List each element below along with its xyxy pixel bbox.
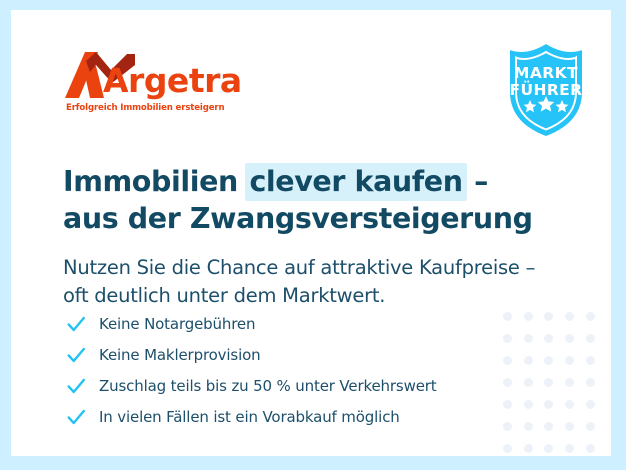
subheading-line-1: Nutzen Sie die Chance auf attraktive Kau… (63, 256, 535, 279)
decorative-dot (565, 334, 574, 343)
bullet-label: Zuschlag teils bis zu 50 % unter Verkehr… (99, 377, 437, 395)
decorative-dot (565, 444, 574, 453)
decorative-dot (524, 422, 533, 431)
check-icon (65, 313, 87, 335)
bullet-label: Keine Maklerprovision (99, 346, 260, 364)
decorative-dot (524, 400, 533, 409)
benefits-list: Keine NotargebührenKeine Maklerprovision… (65, 308, 505, 432)
decorative-dot (565, 400, 574, 409)
subheading: Nutzen Sie die Chance auf attraktive Kau… (63, 254, 543, 310)
headline: Immobilien clever kaufen – aus der Zwang… (63, 163, 533, 237)
decorative-dot (586, 422, 595, 431)
decorative-dot (544, 312, 553, 321)
headline-line-2: aus der Zwangsversteigerung (63, 202, 533, 235)
promo-banner: Argetra Erfolgreich Immobilien ersteiger… (0, 0, 626, 470)
content-card: Argetra Erfolgreich Immobilien ersteiger… (11, 10, 611, 456)
decorative-dot (524, 378, 533, 387)
headline-highlight: clever kaufen (245, 163, 466, 201)
headline-part-2: – (465, 165, 488, 198)
decorative-dot (524, 312, 533, 321)
decorative-dot (586, 400, 595, 409)
list-item: Keine Notargebühren (65, 308, 505, 339)
check-icon (65, 375, 87, 397)
decorative-dot (544, 378, 553, 387)
subheading-line-2: oft deutlich unter dem Marktwert. (63, 284, 385, 307)
dot-grid-decoration (497, 305, 601, 456)
list-item: Zuschlag teils bis zu 50 % unter Verkehr… (65, 370, 505, 401)
decorative-dot (544, 356, 553, 365)
decorative-dot (586, 356, 595, 365)
list-item: Keine Maklerprovision (65, 339, 505, 370)
list-item: In vielen Fällen ist ein Vorabkauf mögli… (65, 401, 505, 432)
decorative-dot (586, 378, 595, 387)
decorative-dot (586, 444, 595, 453)
decorative-dot (586, 334, 595, 343)
check-icon (65, 406, 87, 428)
badge-line-2: FÜHRER (500, 81, 592, 99)
decorative-dot (524, 444, 533, 453)
headline-part-1: Immobilien (63, 165, 247, 198)
decorative-dot (524, 334, 533, 343)
decorative-dot (544, 444, 553, 453)
decorative-dot (524, 356, 533, 365)
decorative-dot (544, 422, 553, 431)
check-icon (65, 344, 87, 366)
market-leader-badge: MARKT FÜHRER (500, 42, 592, 138)
decorative-dot (586, 312, 595, 321)
logo-tagline: Erfolgreich Immobilien ersteigern (66, 103, 224, 113)
decorative-dot (565, 378, 574, 387)
bullet-label: Keine Notargebühren (99, 315, 255, 333)
bullet-label: In vielen Fällen ist ein Vorabkauf mögli… (99, 408, 400, 426)
decorative-dot (565, 422, 574, 431)
decorative-dot (503, 444, 512, 453)
decorative-dot (544, 334, 553, 343)
decorative-dot (565, 312, 574, 321)
decorative-dot (565, 356, 574, 365)
argetra-logo[interactable]: Argetra Erfolgreich Immobilien ersteiger… (65, 52, 255, 116)
badge-line-1: MARKT (500, 64, 592, 82)
decorative-dot (544, 400, 553, 409)
logo-wordmark: Argetra (103, 64, 242, 97)
